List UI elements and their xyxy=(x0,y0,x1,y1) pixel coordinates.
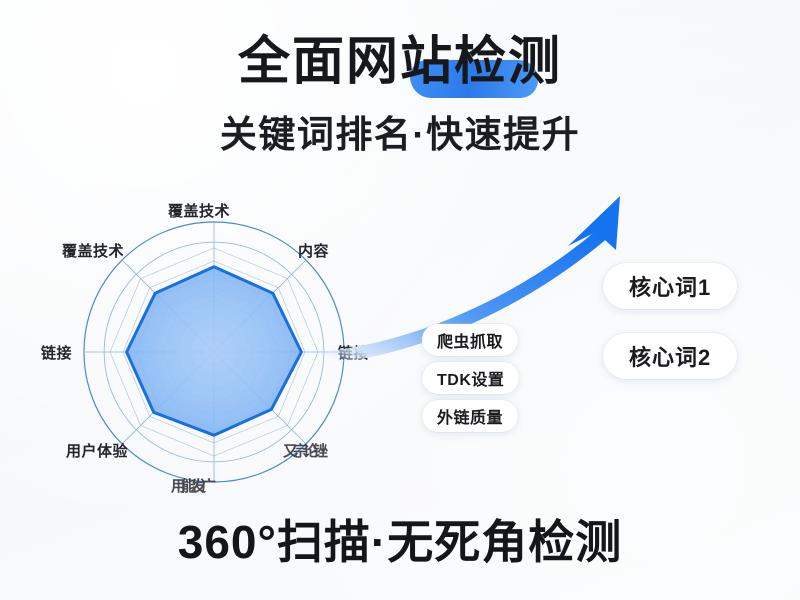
title-segment-highlight: 网站 xyxy=(346,33,454,91)
radar-label-1: 内容 xyxy=(298,240,329,261)
radar-label-0: 覆盖技术 xyxy=(168,200,230,221)
tag-pill-crawl-label: 爬虫抓取 xyxy=(437,328,503,352)
radar-chart: 覆盖技术 内容 链接 又宗论锉 用能发广 用户体验 链接 覆盖技术 xyxy=(28,192,400,510)
radar-label-4: 用能发广 xyxy=(171,475,211,496)
keyword-pill-2[interactable]: 核心词2 xyxy=(603,333,737,379)
keyword-pill-1-label: 核心词1 xyxy=(629,270,711,302)
tag-pill-backlink-quality[interactable]: 外链质量 xyxy=(422,400,518,432)
tag-pill-crawl[interactable]: 爬虫抓取 xyxy=(422,324,518,356)
page-subtitle: 关键词排名·快速提升 xyxy=(0,104,800,158)
radar-label-6: 链接 xyxy=(41,342,72,363)
tag-pill-tdk-label: TDK设置 xyxy=(437,366,504,390)
page-title: 全面网站检测 xyxy=(238,34,562,90)
keyword-pill-2-label: 核心词2 xyxy=(629,340,711,372)
title-segment-post: 检测 xyxy=(454,33,562,91)
footer-headline: 360°扫描·无死角检测 xyxy=(0,506,800,572)
headline-block: 全面网站检测 关键词排名·快速提升 xyxy=(0,34,800,158)
keyword-pill-1[interactable]: 核心词1 xyxy=(603,263,737,309)
radar-label-2: 链接 xyxy=(338,342,369,363)
tag-pill-backlink-quality-label: 外链质量 xyxy=(437,404,503,428)
radar-series-polygon xyxy=(127,267,302,436)
tag-pill-tdk[interactable]: TDK设置 xyxy=(422,362,519,394)
radar-label-3: 又宗论锉 xyxy=(283,440,323,461)
title-segment-pre: 全面 xyxy=(238,33,346,91)
radar-label-5: 用户体验 xyxy=(66,440,128,461)
radar-label-7: 覆盖技术 xyxy=(62,240,124,261)
poster-canvas: 全面网站检测 关键词排名·快速提升 覆盖技术 内容 链接 又宗论锉 用能发广 用… xyxy=(0,0,800,600)
